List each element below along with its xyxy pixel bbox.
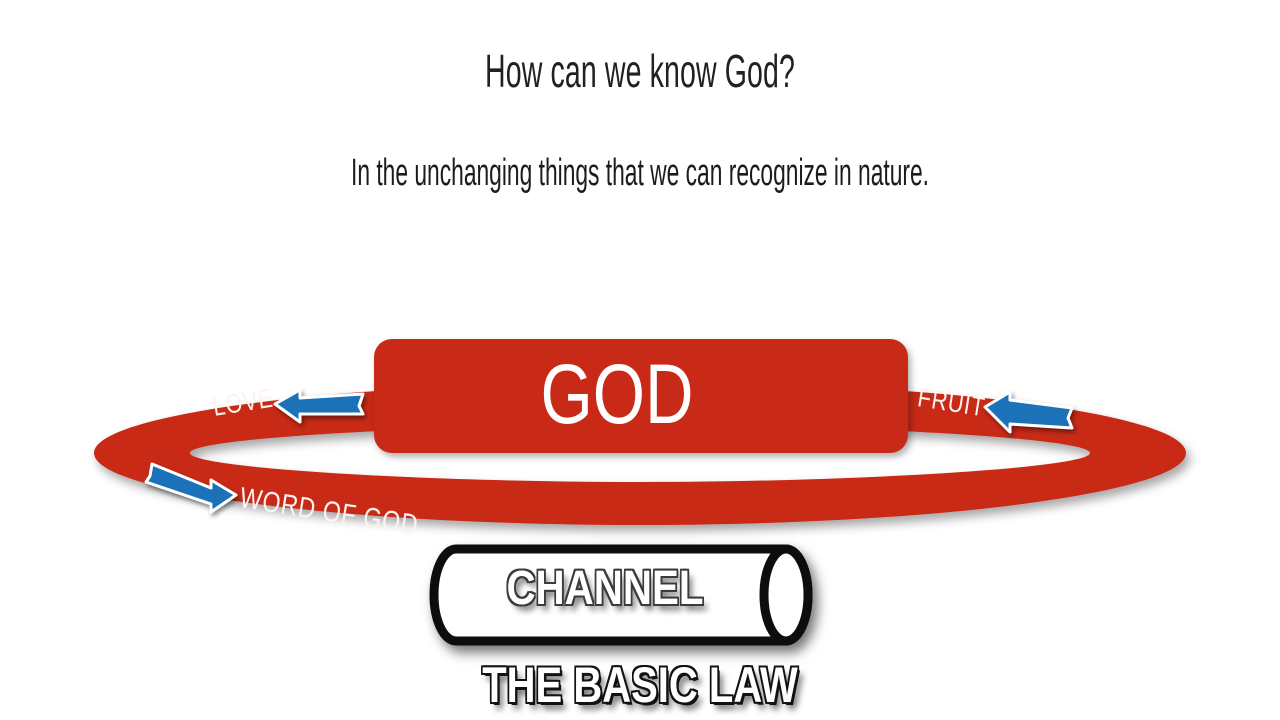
cylinder-end-cap	[764, 549, 808, 641]
diagram-container: GOD LOVE FRUIT WORD OF GOD CHANNEL THE B…	[0, 0, 1280, 720]
slide-canvas: How can we know God? In the unchanging t…	[0, 0, 1280, 720]
basic-law-caption: THE BASIC LAW	[128, 658, 1152, 712]
channel-label: CHANNEL	[460, 560, 751, 618]
